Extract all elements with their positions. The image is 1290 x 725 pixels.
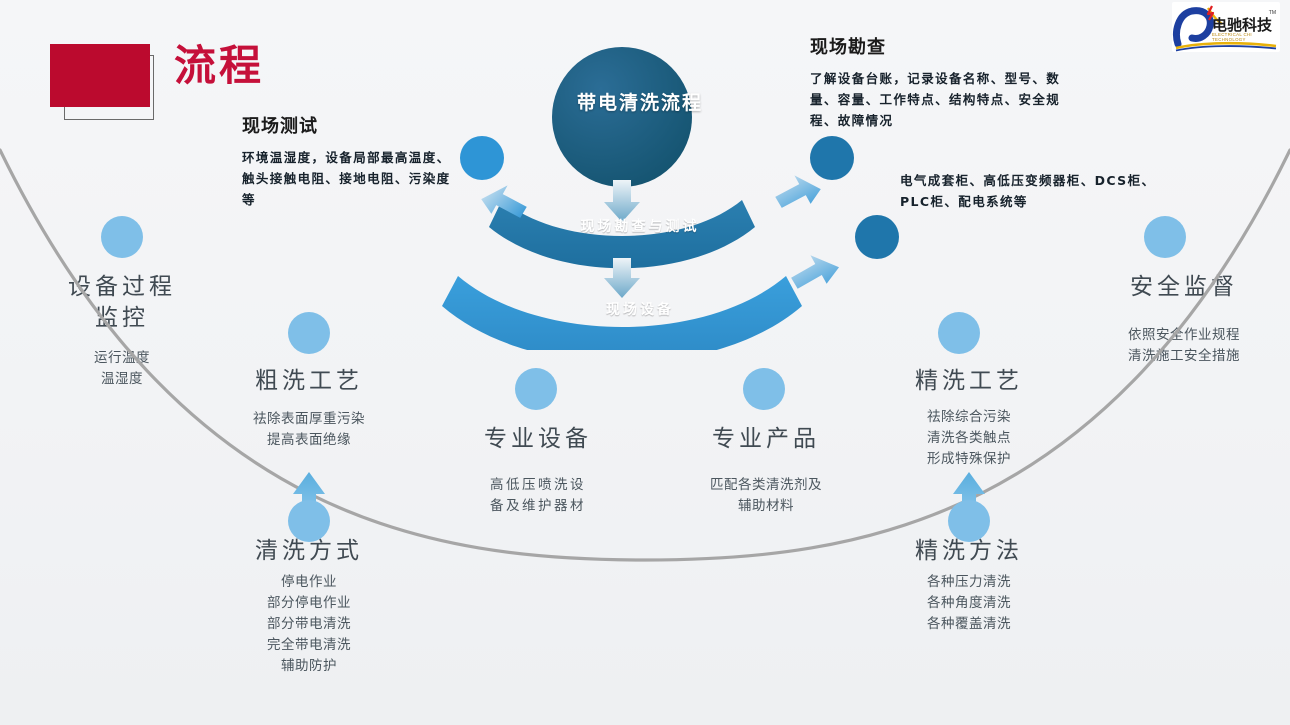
funnel-band2-label: 现场设备 — [540, 299, 740, 319]
slide-canvas: 流程 电驰科技 ELECTRICAL CHI TECHNOLOGY TM — [0, 0, 1290, 725]
arc-node-rough-wash[interactable]: 粗洗工艺 祛除表面厚重污染 提高表面绝缘 — [219, 366, 399, 451]
arc-dot-3 — [515, 368, 557, 410]
logo-tm: TM — [1269, 10, 1276, 16]
branch-node-cleaning-method[interactable]: 清洗方式 停电作业 部分停电作业 部分带电清洗 完全带电清洗 辅助防护 — [219, 536, 399, 677]
branch-node-fine-wash-method-line-2: 各种覆盖清洗 — [879, 614, 1059, 635]
arc-node-rough-wash-line-1: 提高表面绝缘 — [219, 430, 399, 451]
branch-node-cleaning-method-line-4: 辅助防护 — [219, 656, 399, 677]
arc-node-pro-product-line-0: 匹配各类清洗剂及 — [676, 475, 856, 496]
arc-node-pro-equipment-line-0: 高低压喷洗设 — [448, 475, 628, 496]
branch-node-cleaning-method-line-0: 停电作业 — [219, 572, 399, 593]
funnel-center-label: 带电清洗流程 — [555, 88, 725, 115]
arc-node-fine-wash-line-1: 清洗各类触点 — [879, 428, 1059, 449]
arc-node-pro-product-title: 专业产品 — [676, 424, 856, 455]
arc-node-fine-wash[interactable]: 精洗工艺 祛除综合污染 清洗各类触点 形成特殊保护 — [879, 366, 1059, 470]
arc-node-rough-wash-title: 粗洗工艺 — [219, 366, 399, 397]
callout-equipment-list: 电气成套柜、高低压变频器柜、DCS柜、PLC柜、配电系统等 — [900, 170, 1170, 212]
arc-node-fine-wash-line-2: 形成特殊保护 — [879, 449, 1059, 470]
arc-node-safety-supervision-title: 安全监督 — [1094, 272, 1274, 303]
arc-dot-5 — [938, 312, 980, 354]
branch-dot-cleaning-method — [288, 500, 330, 542]
arc-dot-6 — [1144, 216, 1186, 258]
arc-node-process-monitor-title: 设备过程 监控 — [32, 272, 212, 334]
arc-node-safety-supervision-line-1: 清洗施工安全措施 — [1094, 346, 1274, 367]
callout-site-test-heading: 现场测试 — [242, 112, 457, 138]
arc-node-pro-product[interactable]: 专业产品 匹配各类清洗剂及 辅助材料 — [676, 424, 856, 517]
title-red-box — [50, 44, 150, 107]
branch-node-cleaning-method-line-2: 部分带电清洗 — [219, 614, 399, 635]
branch-node-fine-wash-method-line-0: 各种压力清洗 — [879, 572, 1059, 593]
callout-site-test: 现场测试 环境温湿度，设备局部最高温度、触头接触电阻、接地电阻、污染度等 — [242, 112, 457, 210]
arc-node-pro-equipment-line-1: 备及维护器材 — [448, 496, 628, 517]
arc-node-process-monitor-line-1: 温湿度 — [32, 369, 212, 390]
arc-dot-2 — [288, 312, 330, 354]
arc-node-process-monitor-line-0: 运行温度 — [32, 348, 212, 369]
funnel-band1-label: 现场勘查与测试 — [540, 216, 740, 236]
arc-node-fine-wash-line-0: 祛除综合污染 — [879, 407, 1059, 428]
arc-dot-4 — [743, 368, 785, 410]
logo-tagline: ELECTRICAL CHI TECHNOLOGY — [1212, 32, 1280, 42]
arc-node-safety-supervision[interactable]: 安全监督 依照安全作业规程 清洗施工安全措施 — [1094, 272, 1274, 367]
arc-node-fine-wash-title: 精洗工艺 — [879, 366, 1059, 397]
page-title: 流程 — [174, 44, 264, 88]
arc-node-pro-equipment[interactable]: 专业设备 高低压喷洗设 备及维护器材 — [448, 424, 628, 517]
arc-node-pro-equipment-title: 专业设备 — [448, 424, 628, 455]
arc-node-pro-product-line-1: 辅助材料 — [676, 496, 856, 517]
arc-node-safety-supervision-line-0: 依照安全作业规程 — [1094, 325, 1274, 346]
arc-node-process-monitor[interactable]: 设备过程 监控 运行温度 温湿度 — [32, 272, 212, 390]
branch-node-fine-wash-method-line-1: 各种角度清洗 — [879, 593, 1059, 614]
callout-equipment-list-body: 电气成套柜、高低压变频器柜、DCS柜、PLC柜、配电系统等 — [900, 170, 1170, 212]
branch-node-fine-wash-method[interactable]: 精洗方法 各种压力清洗 各种角度清洗 各种覆盖清洗 — [879, 536, 1059, 635]
branch-node-cleaning-method-line-3: 完全带电清洗 — [219, 635, 399, 656]
arc-dot-1 — [101, 216, 143, 258]
company-logo[interactable]: 电驰科技 ELECTRICAL CHI TECHNOLOGY TM — [1172, 2, 1280, 52]
branch-node-cleaning-method-line-1: 部分停电作业 — [219, 593, 399, 614]
branch-dot-fine-wash-method — [948, 500, 990, 542]
arc-node-rough-wash-line-0: 祛除表面厚重污染 — [219, 409, 399, 430]
callout-site-test-body: 环境温湿度，设备局部最高温度、触头接触电阻、接地电阻、污染度等 — [242, 147, 457, 210]
